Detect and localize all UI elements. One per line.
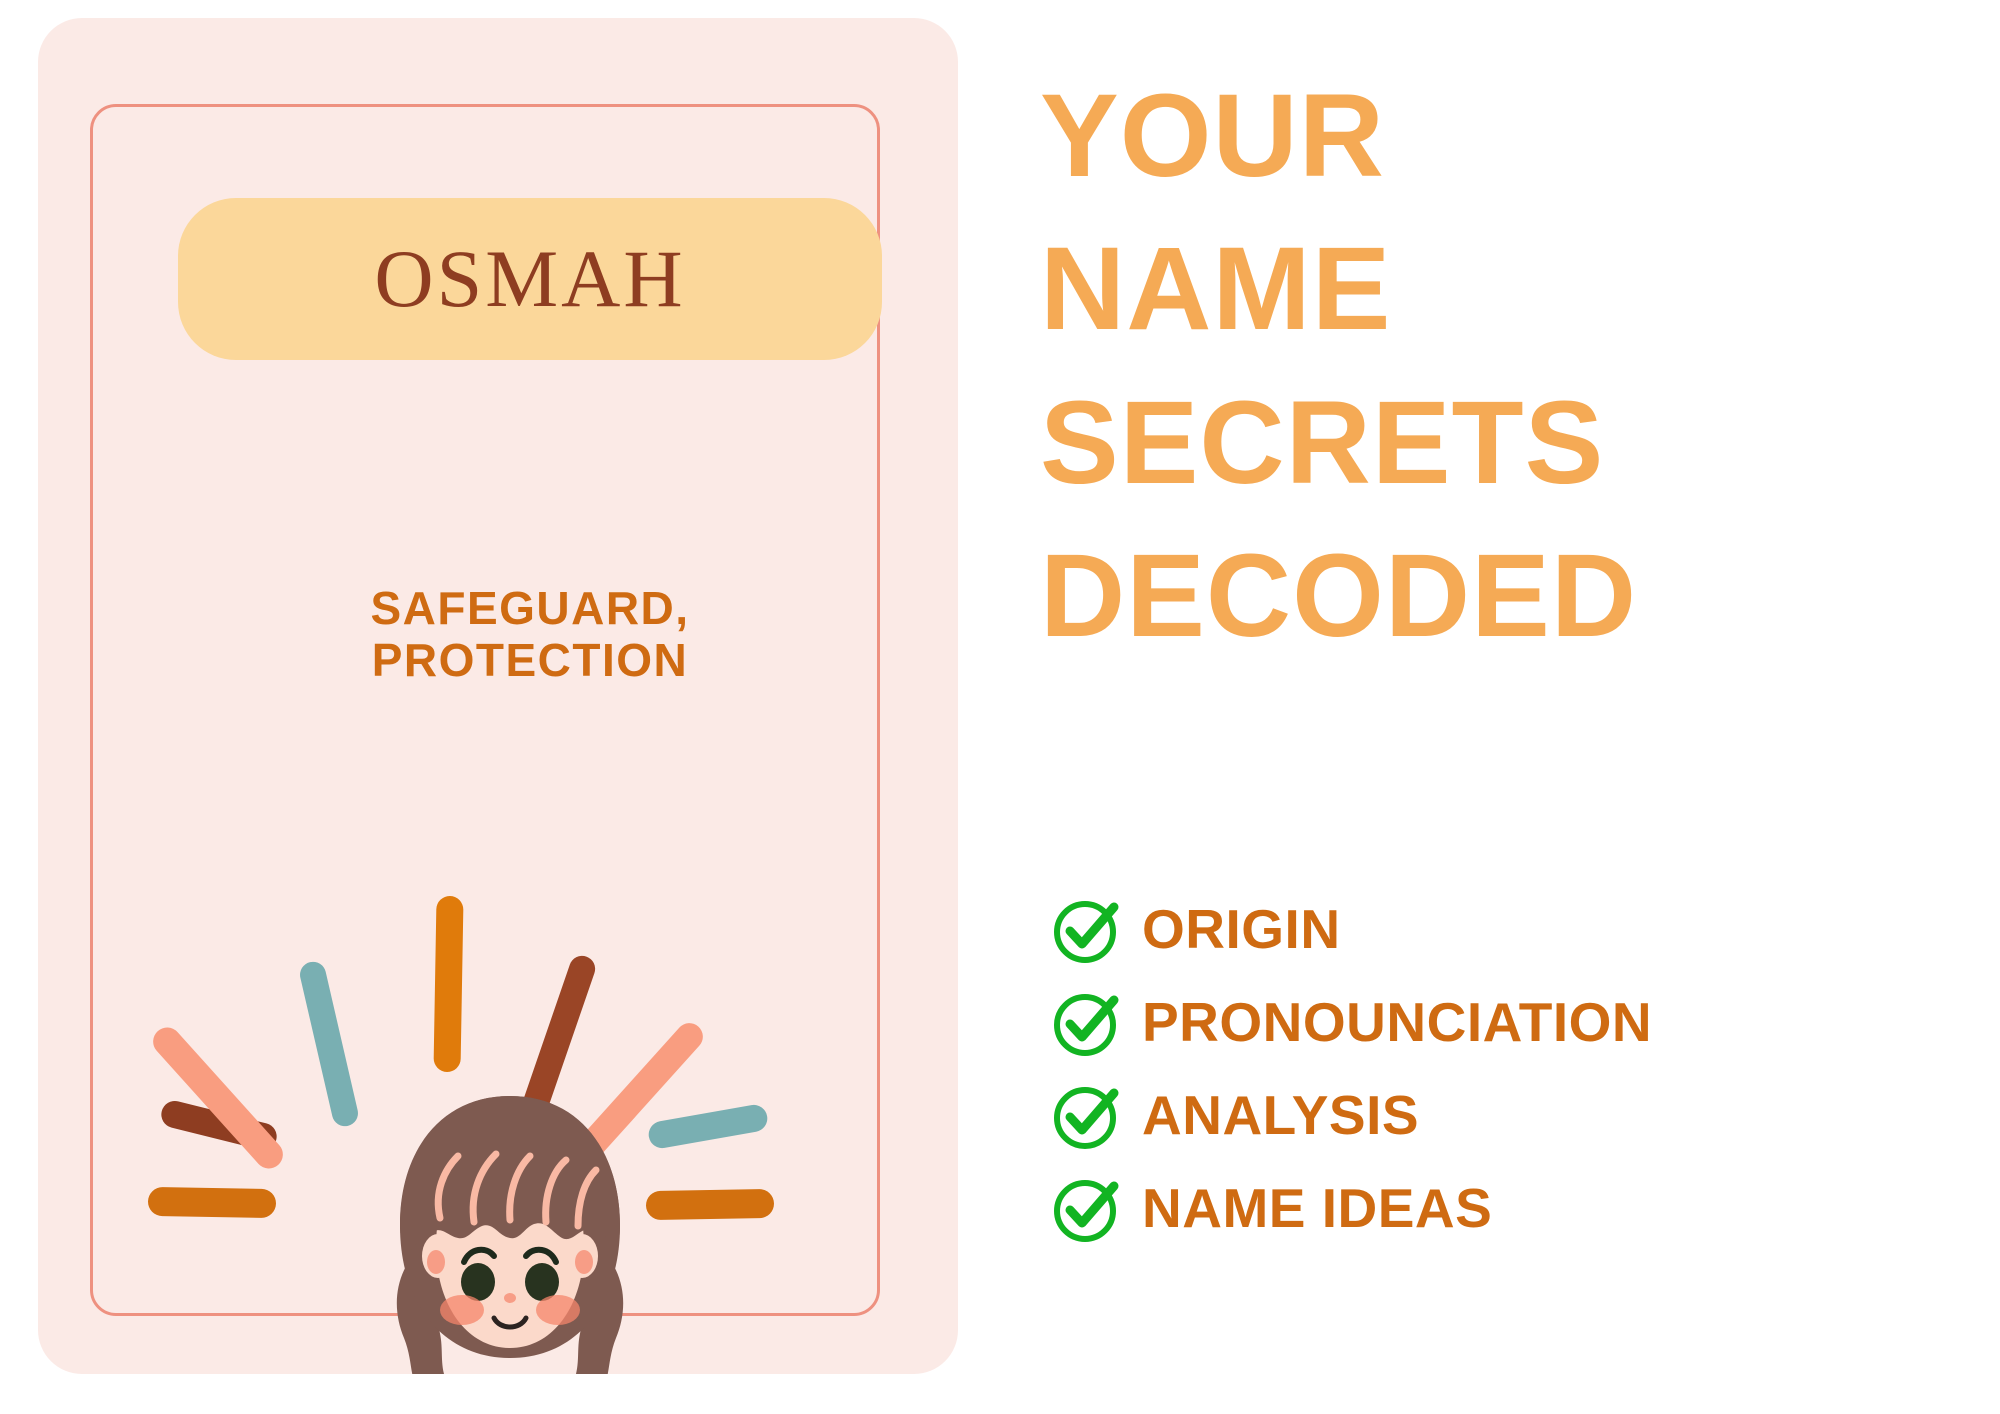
- ray-orange-top: [433, 896, 463, 1072]
- feature-checklist: ORIGIN PRONOUNCIATION: [1050, 883, 1940, 1255]
- name-badge: OSMAH: [178, 198, 882, 360]
- checklist-label: PRONOUNCIATION: [1142, 995, 1652, 1050]
- right-panel: YOUR NAME SECRETS DECODED ORIGIN: [1040, 60, 1940, 1360]
- headline-line-1: YOUR: [1040, 60, 1940, 213]
- ray-teal-left: [297, 959, 360, 1129]
- nose: [504, 1293, 516, 1303]
- headline-line-4: DECODED: [1040, 520, 1940, 673]
- ray-salmon-left: [147, 1022, 288, 1175]
- name-badge-text: OSMAH: [374, 238, 685, 320]
- checklist-item-origin: ORIGIN: [1050, 883, 1940, 976]
- ray-teal-right: [647, 1103, 770, 1150]
- name-card: OSMAH SAFEGUARD, PROTECTION: [38, 18, 958, 1374]
- headline-line-2: NAME: [1040, 213, 1940, 366]
- check-circle-icon: [1050, 986, 1124, 1060]
- ray-orange-bottom-left: [148, 1187, 276, 1218]
- left-cheek: [440, 1295, 484, 1325]
- name-meaning: SAFEGUARD, PROTECTION: [178, 583, 882, 686]
- checklist-label: ORIGIN: [1142, 902, 1341, 957]
- checklist-item-name-ideas: NAME IDEAS: [1050, 1162, 1940, 1255]
- poster-canvas: OSMAH SAFEGUARD, PROTECTION: [0, 0, 2000, 1414]
- girl-character-illustration: [370, 1086, 650, 1374]
- checklist-item-analysis: ANALYSIS: [1050, 1069, 1940, 1162]
- check-circle-icon: [1050, 1172, 1124, 1246]
- checklist-label: ANALYSIS: [1142, 1088, 1419, 1143]
- right-cheek: [536, 1295, 580, 1325]
- meaning-line-2: PROTECTION: [178, 635, 882, 687]
- meaning-line-1: SAFEGUARD,: [178, 583, 882, 635]
- checklist-item-pronounciation: PRONOUNCIATION: [1050, 976, 1940, 1069]
- check-circle-icon: [1050, 893, 1124, 967]
- page-title: YOUR NAME SECRETS DECODED: [1040, 60, 1940, 674]
- ray-orange-bottom-right: [646, 1189, 774, 1220]
- headline-line-3: SECRETS: [1040, 367, 1940, 520]
- check-circle-icon: [1050, 1079, 1124, 1153]
- checklist-label: NAME IDEAS: [1142, 1181, 1492, 1236]
